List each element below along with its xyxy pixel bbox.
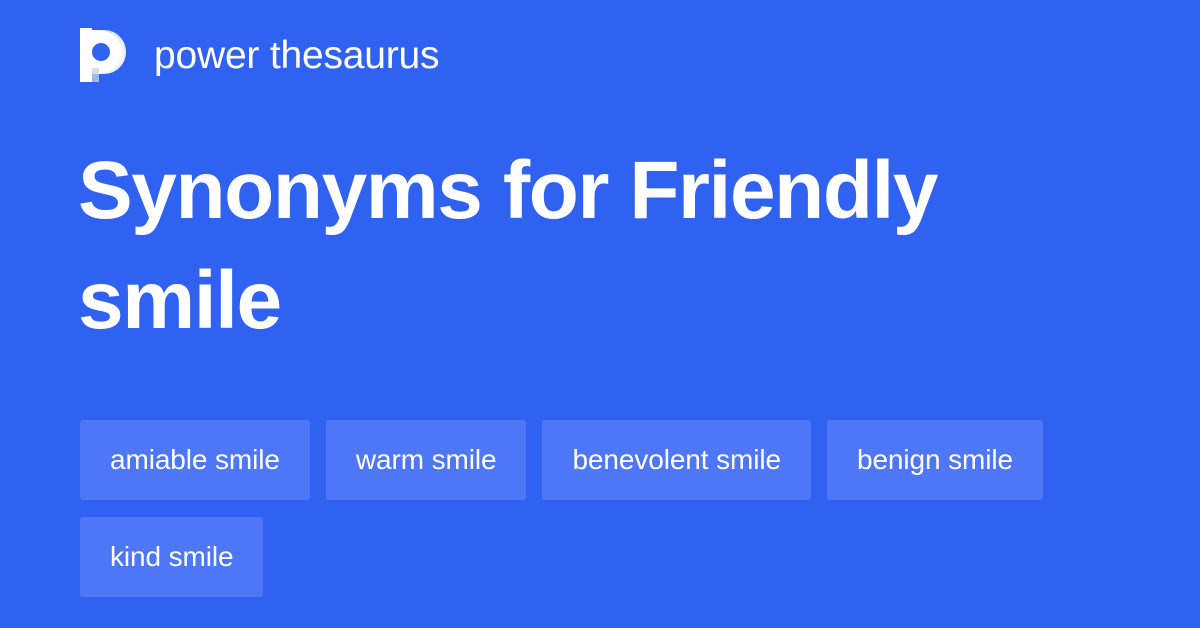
brand-name: power thesaurus [154,36,439,75]
synonym-chip[interactable]: warm smile [326,420,527,500]
brand-logo[interactable]: power thesaurus [80,26,439,84]
synonym-chip[interactable]: benevolent smile [542,420,811,500]
synonym-chip[interactable]: kind smile [80,517,263,597]
synonym-chip[interactable]: amiable smile [80,420,310,500]
page-title: Synonyms for Friendly smile [78,136,998,356]
power-thesaurus-logo-icon [80,28,128,82]
synonym-chip-list: amiable smile warm smile benevolent smil… [80,420,1120,597]
share-card: power thesaurus Synonyms for Friendly sm… [0,0,1200,628]
synonym-chip[interactable]: benign smile [827,420,1043,500]
